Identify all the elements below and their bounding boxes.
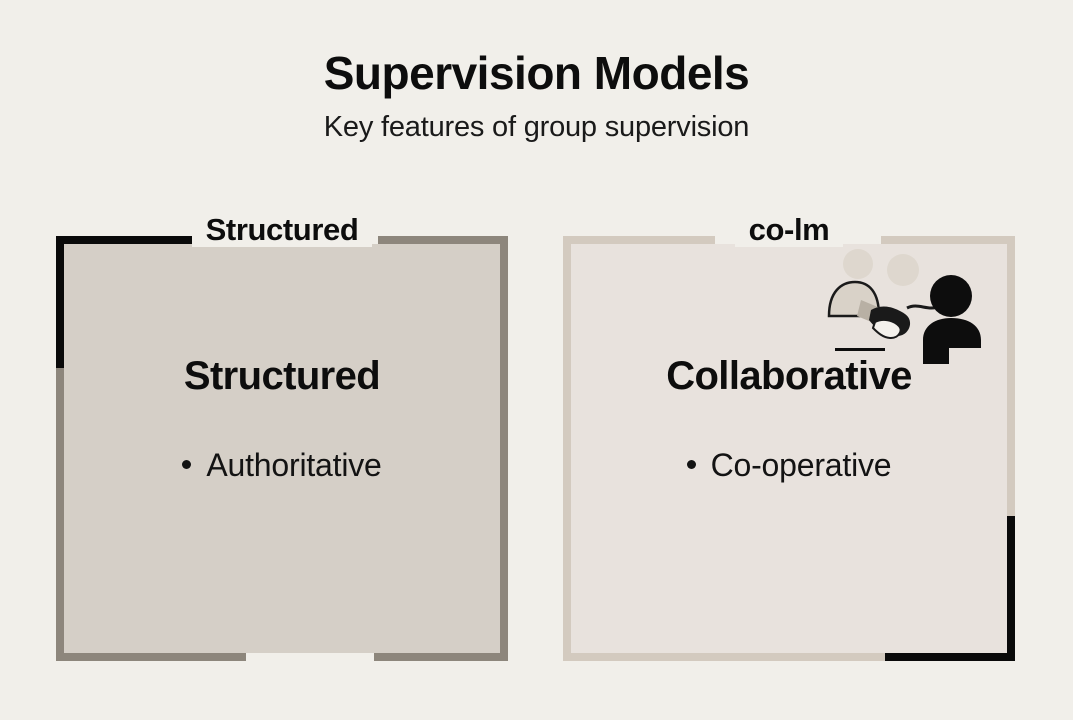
- page-subtitle: Key features of group supervision: [0, 96, 1073, 142]
- bullet-dot-icon: [687, 460, 696, 469]
- card-accent-corner-side: [56, 236, 64, 368]
- bullet-text: Co-operative: [711, 447, 892, 483]
- card-body: Structured Authoritative: [64, 356, 500, 481]
- card-border-bottom-left: [563, 653, 885, 661]
- page-title: Supervision Models: [0, 0, 1073, 96]
- card-bullet-list: Authoritative: [64, 396, 500, 481]
- bullet-text: Authoritative: [206, 447, 381, 483]
- card-heading: Structured: [64, 356, 500, 396]
- card-border-right: [500, 236, 508, 661]
- card-label-text: co-lm: [735, 212, 844, 247]
- list-item: Co-operative: [571, 449, 1007, 481]
- card-border-left: [563, 236, 571, 661]
- card-structured[interactable]: Structured Structured Authoritative: [56, 236, 508, 661]
- card-collaborative[interactable]: co-lm: [563, 236, 1015, 661]
- card-border-right: [1007, 236, 1015, 524]
- card-border-bottom-right: [374, 653, 508, 661]
- card-border-left: [56, 368, 64, 661]
- card-border-bottom-left: [56, 653, 246, 661]
- page-header: Supervision Models Key features of group…: [0, 0, 1073, 142]
- card-body: Collaborative Co-operative: [571, 356, 1007, 481]
- card-accent-corner-bottom: [885, 653, 1015, 661]
- list-item: Authoritative: [64, 449, 500, 481]
- card-label-collaborative: co-lm: [563, 214, 1015, 245]
- card-bullet-list: Co-operative: [571, 396, 1007, 481]
- handshake-two-people-icon: [823, 244, 1003, 364]
- bullet-dot-icon: [182, 460, 191, 469]
- card-heading: Collaborative: [571, 356, 1007, 396]
- card-label-structured: Structured: [56, 214, 508, 245]
- cards-container: Structured Structured Authoritative co-l…: [0, 236, 1073, 661]
- card-label-text: Structured: [192, 212, 373, 247]
- card-accent-corner-side: [1007, 516, 1015, 661]
